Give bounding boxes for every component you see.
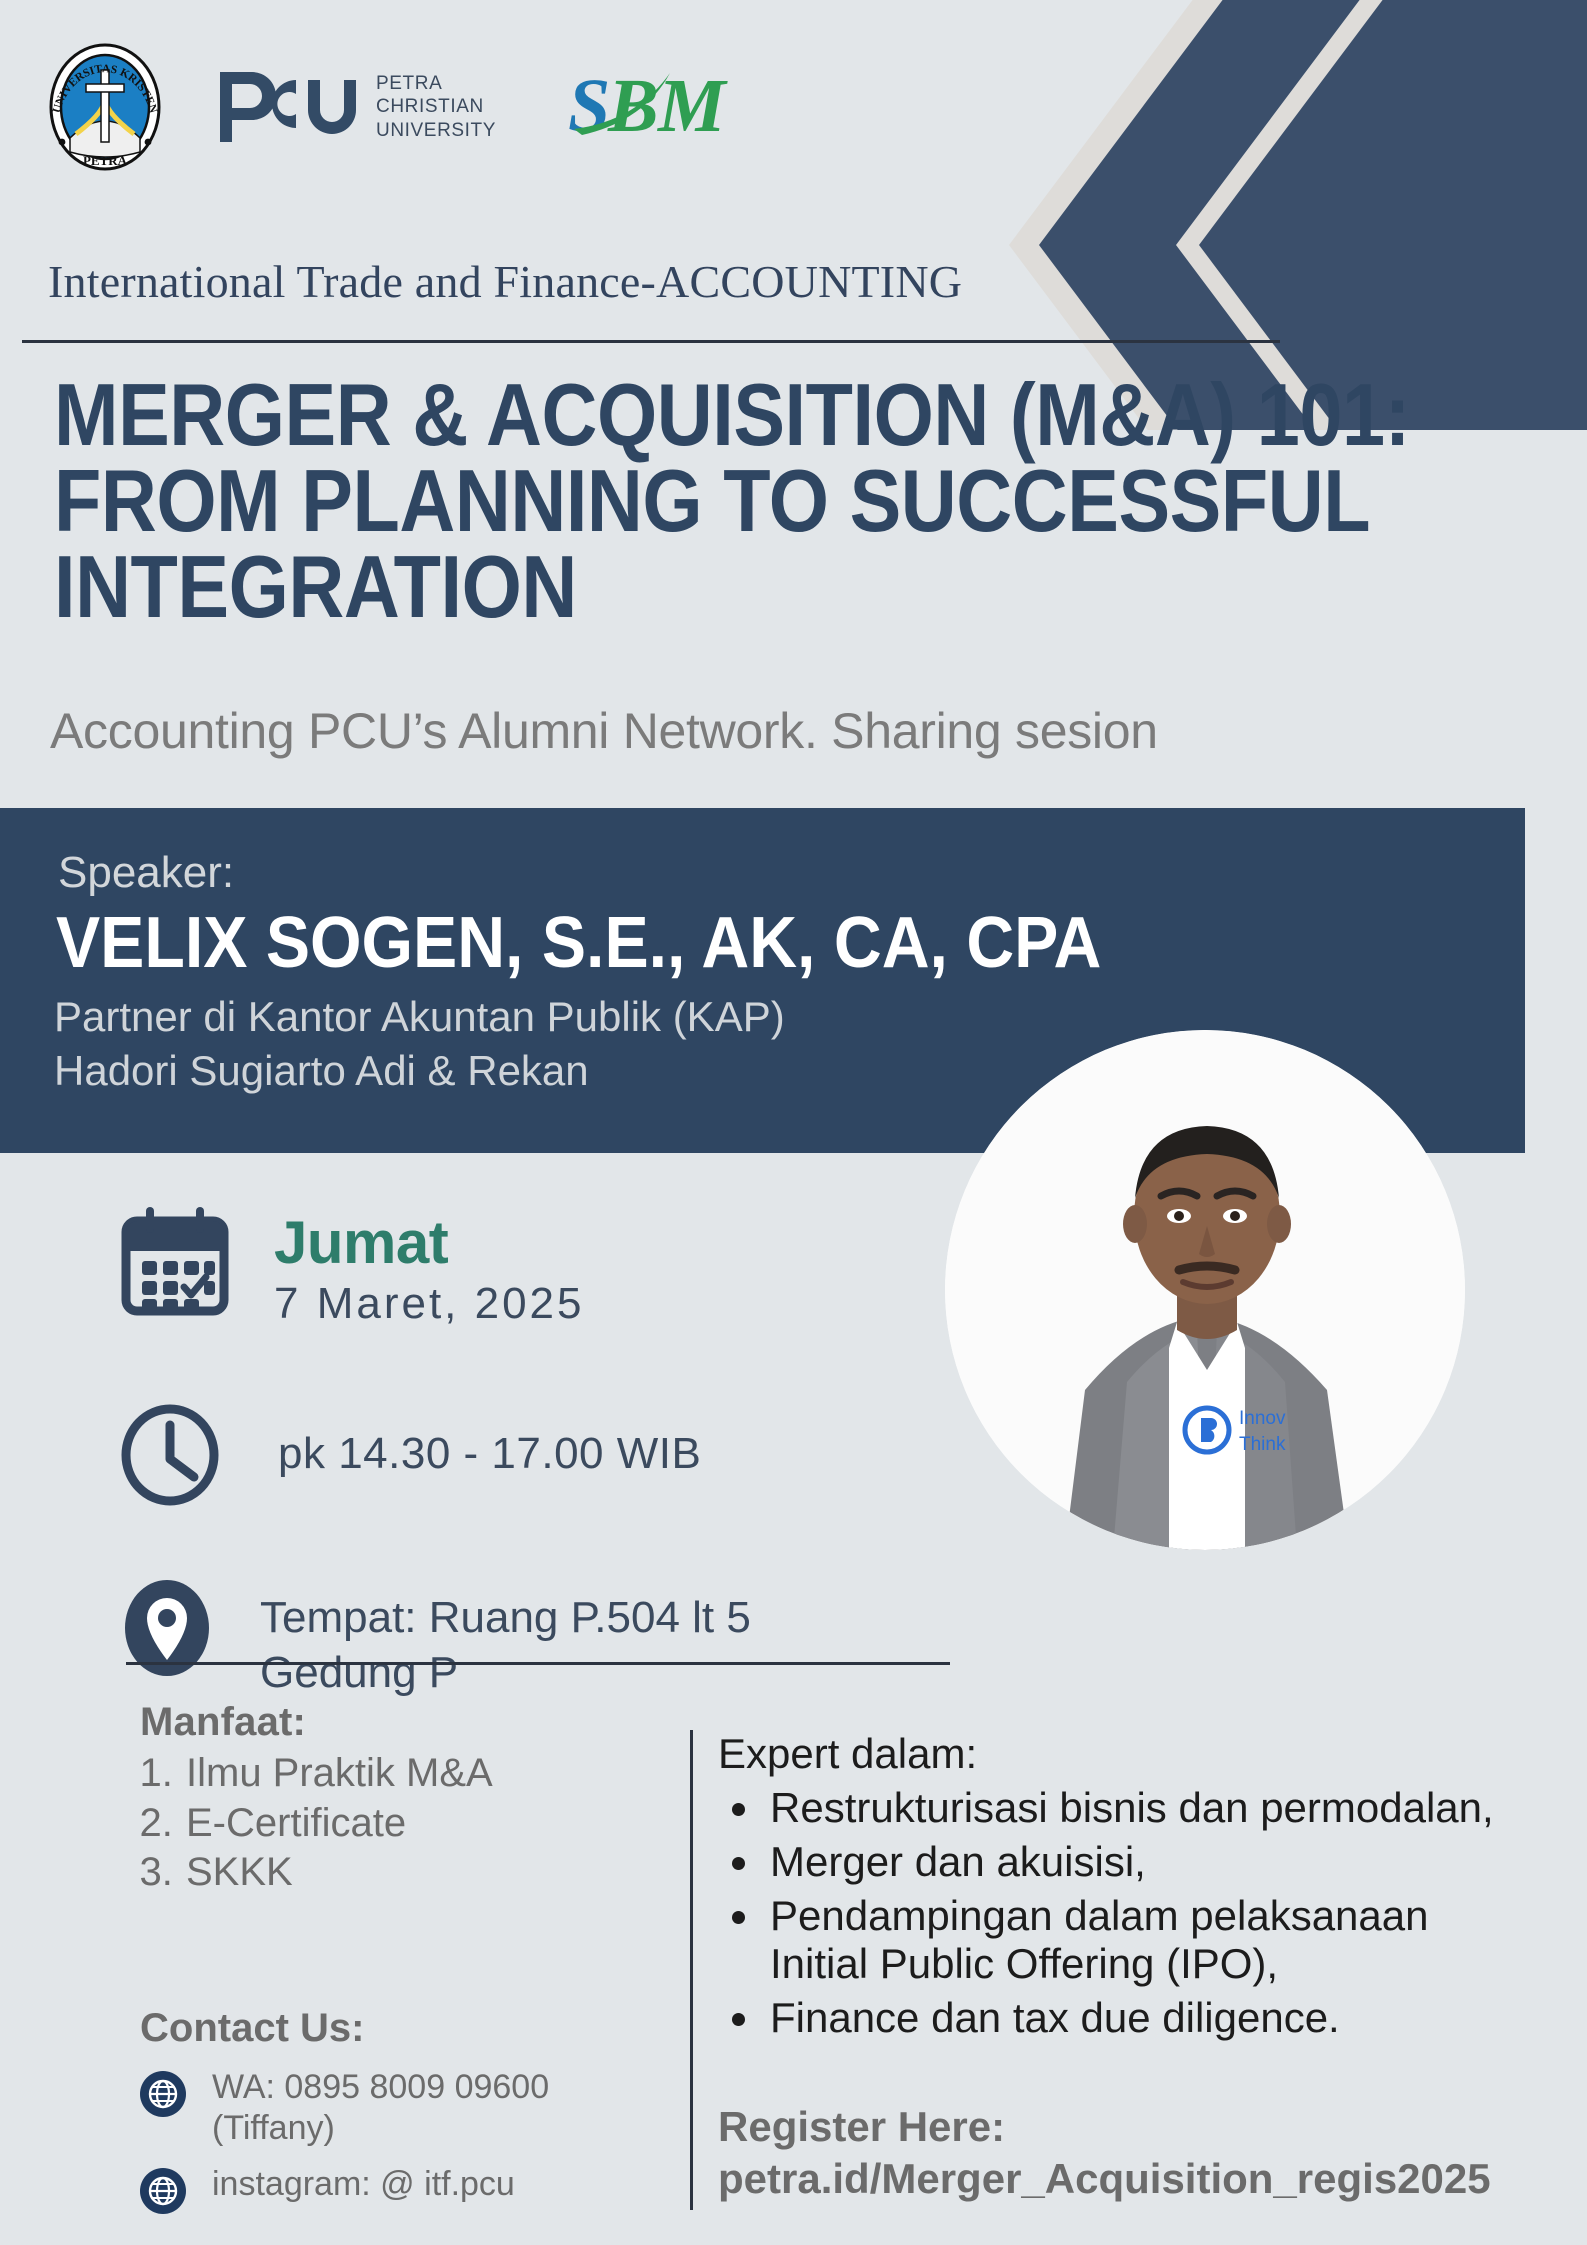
title-line-1: MERGER & ACQUISITION (M&A) 101: xyxy=(54,372,1198,458)
date-block: Jumat 7 Maret, 2025 xyxy=(274,1205,585,1329)
pcu-wordmark-icon xyxy=(212,64,362,150)
list-item: Ilmu Praktik M&A xyxy=(184,1749,660,1799)
speaker-role-line-2: Hadori Sugiarto Adi & Rekan xyxy=(54,1044,785,1098)
vertical-divider xyxy=(690,1730,693,2210)
contact-line-1: WA: 0895 8009 09600 xyxy=(212,2067,549,2108)
kicker-text: International Trade and Finance-ACCOUNTI… xyxy=(48,255,1288,308)
event-day: Jumat xyxy=(274,1213,585,1273)
benefits-list: Ilmu Praktik M&A E-Certificate SKKK xyxy=(184,1749,660,1898)
pcu-text-line-2: CHRISTIAN xyxy=(376,95,496,118)
speaker-label: Speaker: xyxy=(58,848,234,898)
page-title: MERGER & ACQUISITION (M&A) 101: FROM PLA… xyxy=(54,372,1198,631)
register-url[interactable]: petra.id/Merger_Acquisition_regis2025 xyxy=(718,2153,1538,2204)
contact-instagram-text: instagram: @ itf.pcu xyxy=(212,2164,515,2205)
pcu-text-line-1: PETRA xyxy=(376,72,496,95)
middle-divider xyxy=(126,1662,950,1665)
date-row: Jumat 7 Maret, 2025 xyxy=(120,1205,950,1329)
speaker-photo: Innov Think xyxy=(945,1030,1465,1550)
list-item: Restrukturisasi bisnis dan permodalan, xyxy=(764,1784,1538,1832)
register-heading: Register Here: xyxy=(718,2101,1538,2152)
top-divider xyxy=(22,340,1280,343)
contact-line-1: instagram: @ itf.pcu xyxy=(212,2164,515,2205)
list-item: Merger dan akuisisi, xyxy=(764,1838,1538,1886)
title-line-3: INTEGRATION xyxy=(54,544,1198,630)
speaker-name: VELIX SOGEN, S.E., AK, CA, CPA xyxy=(56,902,1101,984)
speaker-role-line-1: Partner di Kantor Akuntan Publik (KAP) xyxy=(54,990,785,1044)
svg-text:Think: Think xyxy=(1239,1434,1286,1455)
contact-instagram[interactable]: instagram: @ itf.pcu xyxy=(140,2164,660,2219)
speaker-portrait-illustration: Innov Think xyxy=(945,1030,1465,1550)
speaker-role: Partner di Kantor Akuntan Publik (KAP) H… xyxy=(54,990,785,1098)
clock-icon xyxy=(120,1403,220,1512)
pcu-logo-text: PETRA CHRISTIAN UNIVERSITY xyxy=(376,72,496,142)
contact-whatsapp-text: WA: 0895 8009 09600 (Tiffany) xyxy=(212,2067,549,2149)
petra-university-seal-logo: PETRA UNIVERSITAS KRISTEN xyxy=(40,42,170,172)
seal-bottom-text: PETRA xyxy=(83,153,128,168)
register-block[interactable]: Register Here: petra.id/Merger_Acquisiti… xyxy=(718,2101,1538,2203)
location-row: Tempat: Ruang P.504 lt 5 Gedung P xyxy=(120,1576,950,1701)
benefits-heading: Manfaat: xyxy=(140,1700,660,1745)
location-pin-icon xyxy=(120,1576,214,1685)
list-item: E-Certificate xyxy=(184,1799,660,1849)
tagline: Accounting PCU’s Alumni Network. Sharing… xyxy=(50,702,1400,760)
sbm-logo: S B M xyxy=(566,59,756,155)
event-date: 7 Maret, 2025 xyxy=(274,1279,585,1329)
expertise-heading: Expert dalam: xyxy=(718,1730,1538,1778)
pcu-text-line-3: UNIVERSITY xyxy=(376,119,496,142)
svg-text:Innov: Innov xyxy=(1239,1408,1286,1429)
list-item: Pendampingan dalam pelaksanaan Initial P… xyxy=(764,1892,1538,1988)
title-line-2: FROM PLANNING TO SUCCESSFUL xyxy=(54,458,1198,544)
event-place: Tempat: Ruang P.504 lt 5 Gedung P xyxy=(260,1576,751,1701)
svg-text:S: S xyxy=(568,64,610,148)
contact-line-2: (Tiffany) xyxy=(212,2108,549,2149)
benefits-contact-column: Manfaat: Ilmu Praktik M&A E-Certificate … xyxy=(140,1700,660,2219)
svg-text:B: B xyxy=(607,64,659,148)
globe-icon xyxy=(140,2071,186,2122)
time-row: pk 14.30 - 17.00 WIB xyxy=(120,1403,950,1512)
logo-row: PETRA UNIVERSITAS KRISTEN PETRA CHRISTIA… xyxy=(40,42,756,172)
contact-heading: Contact Us: xyxy=(140,2006,660,2051)
event-place-line-2: Gedung P xyxy=(260,1645,751,1700)
expertise-list: Restrukturisasi bisnis dan permodalan, M… xyxy=(764,1784,1538,2041)
list-item: SKKK xyxy=(184,1848,660,1898)
event-poster: PETRA UNIVERSITAS KRISTEN PETRA CHRISTIA… xyxy=(0,0,1587,2245)
list-item: Finance dan tax due diligence. xyxy=(764,1994,1538,2042)
globe-icon xyxy=(140,2168,186,2219)
pcu-logo: PETRA CHRISTIAN UNIVERSITY xyxy=(212,64,496,150)
calendar-icon xyxy=(120,1205,230,1322)
expertise-register-column: Expert dalam: Restrukturisasi bisnis dan… xyxy=(718,1730,1538,2204)
event-details: Jumat 7 Maret, 2025 pk 14.30 - 17.00 WIB xyxy=(120,1205,950,1701)
event-time: pk 14.30 - 17.00 WIB xyxy=(278,1403,701,1479)
contact-whatsapp[interactable]: WA: 0895 8009 09600 (Tiffany) xyxy=(140,2067,660,2149)
event-place-line-1: Tempat: Ruang P.504 lt 5 xyxy=(260,1590,751,1645)
